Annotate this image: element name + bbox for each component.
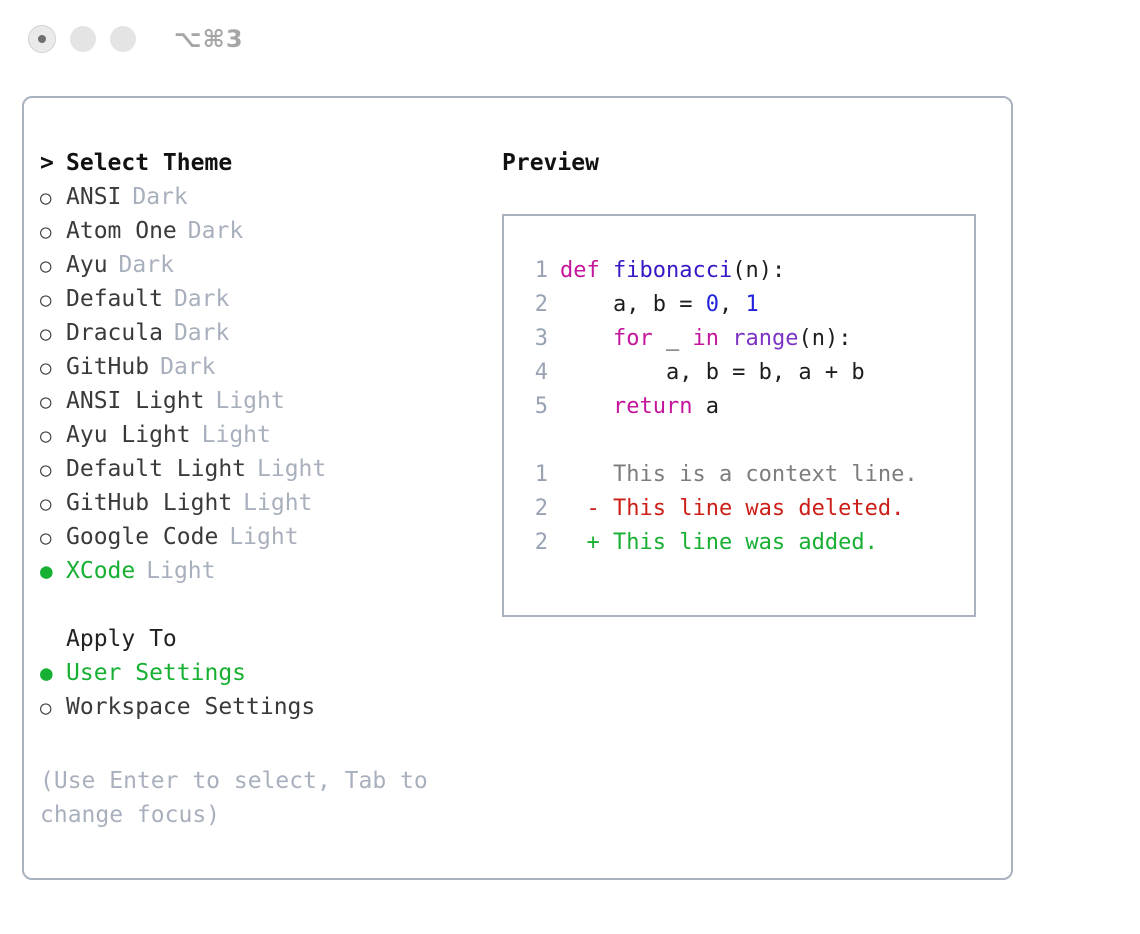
theme-name: ANSI Light (66, 384, 204, 418)
code-token-kw: for (613, 326, 653, 351)
preview-box: 1def fibonacci(n):2 a, b = 0, 13 for _ i… (502, 214, 976, 617)
theme-kind-badge: Light (218, 520, 298, 554)
code-line: 3 for _ in range(n): (518, 322, 974, 356)
code-token-plain: (n): (798, 326, 851, 351)
apply-to-heading: ○ Apply To (40, 622, 470, 656)
theme-list-item[interactable]: ○ANSIDark (40, 180, 470, 214)
code-token-kw: return (613, 394, 692, 419)
code-token-plain: _ (653, 326, 693, 351)
theme-list-item[interactable]: ○GitHubDark (40, 350, 470, 384)
theme-selection-column: > Select Theme ○ANSIDark○Atom OneDark○Ay… (40, 146, 470, 724)
code-line-number: 4 (518, 356, 560, 390)
code-token-builtin: range (732, 326, 798, 351)
theme-list-item[interactable]: ○GitHub LightLight (40, 486, 470, 520)
theme-kind-badge: Light (135, 554, 215, 588)
theme-name: GitHub (66, 350, 149, 384)
theme-kind-badge: Dark (163, 316, 229, 350)
theme-list-item[interactable]: ○AyuDark (40, 248, 470, 282)
theme-kind-badge: Dark (149, 350, 215, 384)
diff-line-number: 1 (518, 458, 560, 492)
theme-list-item[interactable]: ○DraculaDark (40, 316, 470, 350)
apply-to-option[interactable]: ●User Settings (40, 656, 470, 690)
theme-list-item[interactable]: ○Atom OneDark (40, 214, 470, 248)
main-panel: > Select Theme ○ANSIDark○Atom OneDark○Ay… (22, 96, 1013, 880)
apply-to-label: Apply To (66, 622, 177, 656)
theme-kind-badge: Light (246, 452, 326, 486)
code-token-plain (560, 394, 613, 419)
code-line: 4 a, b = b, a + b (518, 356, 974, 390)
theme-name: ANSI (66, 180, 121, 214)
code-token-plain (560, 326, 613, 351)
diff-line: 2 - This line was deleted. (518, 492, 974, 526)
preview-title: Preview (502, 146, 992, 180)
select-theme-heading: > Select Theme (40, 146, 470, 180)
list-spacer (40, 588, 470, 622)
code-line-content: def fibonacci(n): (560, 254, 785, 288)
theme-list-item[interactable]: ○Google CodeLight (40, 520, 470, 554)
theme-kind-badge: Dark (177, 214, 243, 248)
keyboard-shortcut-label: ⌥⌘3 (174, 25, 244, 53)
theme-name: Default (66, 282, 163, 316)
theme-name: Atom One (66, 214, 177, 248)
radio-selected-icon: ● (40, 656, 66, 690)
theme-list-item[interactable]: ○Ayu LightLight (40, 418, 470, 452)
code-line: 1def fibonacci(n): (518, 254, 974, 288)
theme-name: GitHub Light (66, 486, 232, 520)
theme-kind-badge: Dark (108, 248, 174, 282)
code-token-plain: a, b = b, a + b (560, 360, 865, 385)
code-line-number: 5 (518, 390, 560, 424)
apply-to-option-label: User Settings (66, 656, 246, 690)
diff-sample: 1 This is a context line.2 - This line w… (518, 458, 974, 560)
code-diff-separator (518, 424, 974, 458)
theme-name: Ayu Light (66, 418, 191, 452)
radio-unselected-icon: ○ (40, 283, 66, 317)
window-button-one-dot (38, 35, 46, 43)
theme-kind-badge: Light (232, 486, 312, 520)
code-token-plain: , (719, 292, 746, 317)
diff-line-content: - This line was deleted. (560, 492, 904, 526)
window-button-one[interactable] (28, 25, 56, 53)
radio-unselected-icon: ○ (40, 453, 66, 487)
radio-unselected-icon: ○ (40, 521, 66, 555)
radio-unselected-icon: ○ (40, 215, 66, 249)
code-token-plain: a (692, 394, 719, 419)
select-theme-heading-label: Select Theme (66, 146, 232, 180)
apply-to-option[interactable]: ○Workspace Settings (40, 690, 470, 724)
theme-kind-badge: Dark (163, 282, 229, 316)
preview-column: Preview 1def fibonacci(n):2 a, b = 0, 13… (502, 146, 992, 617)
diff-line-content: + This line was added. (560, 526, 878, 560)
window-button-three[interactable] (110, 26, 136, 52)
radio-unselected-icon: ○ (40, 419, 66, 453)
code-line: 5 return a (518, 390, 974, 424)
diff-line: 1 This is a context line. (518, 458, 974, 492)
title-bar: ⌥⌘3 (0, 0, 1140, 78)
code-token-num: 0 (706, 292, 719, 317)
code-line-content: for _ in range(n): (560, 322, 851, 356)
code-line-number: 2 (518, 288, 560, 322)
code-token-plain (719, 326, 732, 351)
apply-to-options: ●User Settings○Workspace Settings (40, 656, 470, 724)
diff-line-content: This is a context line. (560, 458, 918, 492)
theme-list: ○ANSIDark○Atom OneDark○AyuDark○DefaultDa… (40, 180, 470, 588)
code-line-content: a, b = 0, 1 (560, 288, 759, 322)
theme-list-item[interactable]: ○DefaultDark (40, 282, 470, 316)
theme-kind-badge: Light (191, 418, 271, 452)
radio-unselected-icon: ○ (40, 317, 66, 351)
code-token-kw: in (692, 326, 719, 351)
window-button-two[interactable] (70, 26, 96, 52)
code-token-plain: a, b = (560, 292, 706, 317)
radio-unselected-icon: ○ (40, 249, 66, 283)
app-window: ⌥⌘3 > Select Theme ○ANSIDark○Atom OneDar… (0, 0, 1140, 934)
code-token-kw: def (560, 258, 600, 283)
theme-kind-badge: Dark (121, 180, 187, 214)
radio-unselected-icon: ○ (40, 691, 66, 725)
diff-line: 2 + This line was added. (518, 526, 974, 560)
radio-unselected-icon: ○ (40, 385, 66, 419)
theme-list-item[interactable]: ○ANSI LightLight (40, 384, 470, 418)
theme-name: Dracula (66, 316, 163, 350)
theme-list-item[interactable]: ○Default LightLight (40, 452, 470, 486)
code-line-number: 1 (518, 254, 560, 288)
code-line-content: a, b = b, a + b (560, 356, 865, 390)
code-line-number: 3 (518, 322, 560, 356)
apply-to-option-label: Workspace Settings (66, 690, 315, 724)
diff-line-number: 2 (518, 492, 560, 526)
theme-name: Ayu (66, 248, 108, 282)
code-line-content: return a (560, 390, 719, 424)
code-token-plain (600, 258, 613, 283)
theme-list-item[interactable]: ●XCodeLight (40, 554, 470, 588)
radio-unselected-icon: ○ (40, 487, 66, 521)
code-line: 2 a, b = 0, 1 (518, 288, 974, 322)
caret-icon: > (40, 146, 66, 180)
radio-unselected-icon: ○ (40, 351, 66, 385)
code-token-fn: fibonacci (613, 258, 732, 283)
theme-name: Default Light (66, 452, 246, 486)
window-controls (28, 25, 136, 53)
radio-unselected-icon: ○ (40, 181, 66, 215)
keyboard-hint: (Use Enter to select, Tab to change focu… (40, 764, 460, 832)
code-token-plain: (n): (732, 258, 785, 283)
diff-line-number: 2 (518, 526, 560, 560)
theme-name: XCode (66, 554, 135, 588)
apply-to-marker-spacer: ○ (40, 623, 66, 657)
code-token-num: 1 (745, 292, 758, 317)
code-sample: 1def fibonacci(n):2 a, b = 0, 13 for _ i… (518, 254, 974, 424)
radio-selected-icon: ● (40, 554, 66, 588)
theme-kind-badge: Light (204, 384, 284, 418)
theme-name: Google Code (66, 520, 218, 554)
